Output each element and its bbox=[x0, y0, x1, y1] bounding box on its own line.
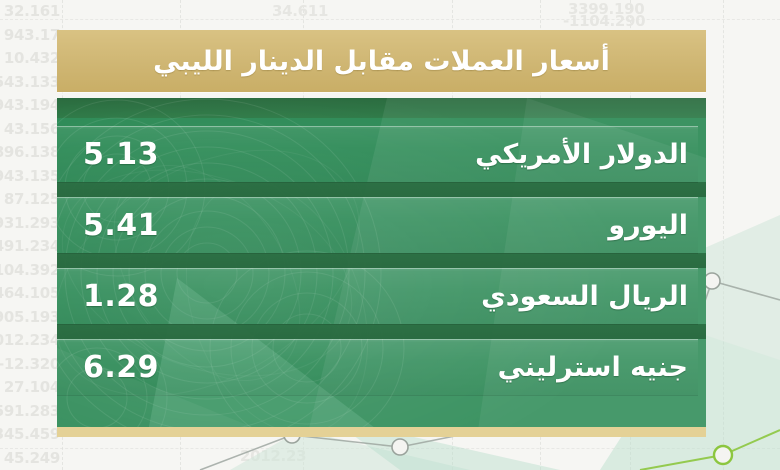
rate-value: 5.13 bbox=[83, 137, 159, 172]
currency-name: الريال السعودي bbox=[481, 281, 688, 312]
card-footer-bar bbox=[57, 427, 706, 437]
row-separator bbox=[57, 182, 706, 197]
table-row[interactable]: 5.41 اليورو bbox=[57, 197, 698, 253]
card-body: 5.13 الدولار الأمريكي 5.41 اليورو 1.28 ا… bbox=[57, 98, 706, 437]
currency-rates-card: أسعار العملات مقابل الدينار الليبي bbox=[57, 30, 706, 437]
currency-name: جنيه استرليني bbox=[498, 352, 688, 383]
currency-name: الدولار الأمريكي bbox=[475, 139, 688, 170]
rate-value: 6.29 bbox=[83, 350, 159, 385]
rates-list: 5.13 الدولار الأمريكي 5.41 اليورو 1.28 ا… bbox=[57, 118, 706, 427]
row-separator bbox=[57, 253, 706, 268]
currency-name: اليورو bbox=[608, 210, 688, 241]
rate-value: 1.28 bbox=[83, 279, 159, 314]
card-header: أسعار العملات مقابل الدينار الليبي bbox=[57, 30, 706, 92]
row-separator bbox=[57, 324, 706, 339]
rate-value: 5.41 bbox=[83, 208, 159, 243]
table-row[interactable]: 1.28 الريال السعودي bbox=[57, 268, 698, 324]
table-row[interactable]: 6.29 جنيه استرليني bbox=[57, 339, 698, 395]
table-row[interactable]: 5.13 الدولار الأمريكي bbox=[57, 126, 698, 182]
page-title: أسعار العملات مقابل الدينار الليبي bbox=[153, 46, 610, 77]
